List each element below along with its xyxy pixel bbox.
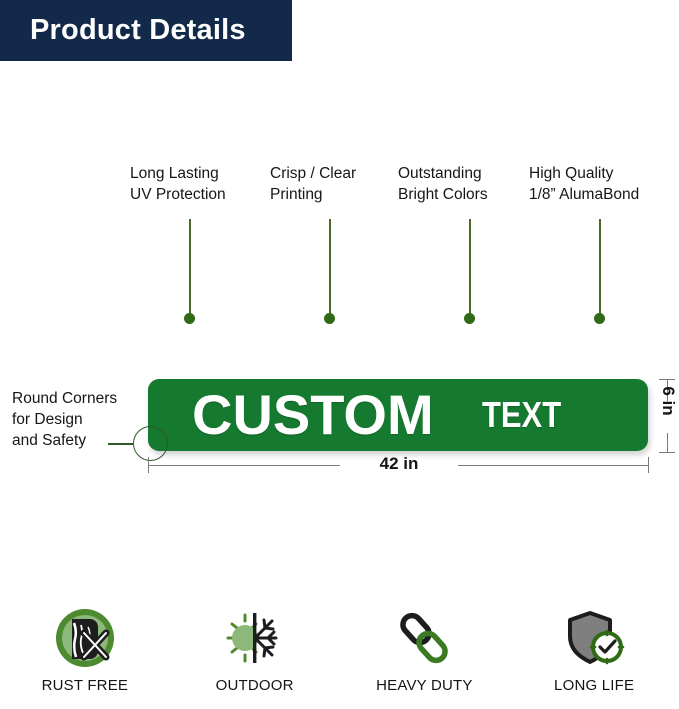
leader-dot-uv-protection [184, 313, 195, 324]
feature-label-long-life: LONG LIFE [554, 677, 634, 694]
leader-line-printing [329, 219, 331, 323]
product-diagram: Long Lasting UV Protection Crisp / Clear… [0, 61, 679, 601]
leader-line-alumabond [599, 219, 601, 323]
sign-main-text: CUSTOM [192, 387, 434, 443]
leader-dot-alumabond [594, 313, 605, 324]
feature-label-outdoor: OUTDOOR [216, 677, 294, 694]
callout-round-corners: Round Corners for Design and Safety [12, 388, 117, 451]
callout-alumabond: High Quality 1/8” AlumaBond [529, 163, 639, 205]
sign-sub-text: TEXT [482, 397, 561, 433]
leader-dot-printing [324, 313, 335, 324]
callout-printing: Crisp / Clear Printing [270, 163, 356, 205]
feature-rust-free: RUST FREE [0, 607, 170, 709]
feature-heavy-duty: HEAVY DUTY [340, 607, 510, 709]
leader-line-bright-colors [469, 219, 471, 323]
leader-line-uv-protection [189, 219, 191, 323]
street-sign-preview[interactable]: CUSTOM TEXT [148, 379, 648, 451]
height-dimension-line-bottom [667, 433, 668, 453]
feature-long-life: LONG LIFE [509, 607, 679, 709]
width-dimension-tick-left [148, 457, 149, 473]
feature-label-heavy-duty: HEAVY DUTY [376, 677, 472, 694]
width-dimension-line-right [458, 465, 648, 466]
rust-free-icon [54, 607, 116, 669]
height-dimension-label: 6 in [658, 378, 678, 424]
width-dimension-tick-right [648, 457, 649, 473]
feature-strip: RUST FREE [0, 607, 679, 709]
leader-dot-bright-colors [464, 313, 475, 324]
page-title: Product Details [30, 16, 246, 45]
chain-link-icon [393, 607, 455, 669]
shield-clock-icon [563, 607, 625, 669]
feature-outdoor: OUTDOOR [170, 607, 340, 709]
header-banner: Product Details [0, 0, 292, 61]
feature-label-rust-free: RUST FREE [42, 677, 129, 694]
width-dimension-line-left [148, 465, 340, 466]
height-dimension-tick-bottom [659, 452, 675, 453]
outdoor-sun-snowflake-icon [224, 607, 286, 669]
callout-bright-colors: Outstanding Bright Colors [398, 163, 488, 205]
callout-uv-protection: Long Lasting UV Protection [130, 163, 226, 205]
round-corner-highlight-circle [133, 426, 168, 461]
width-dimension-label: 42 in [344, 454, 454, 474]
